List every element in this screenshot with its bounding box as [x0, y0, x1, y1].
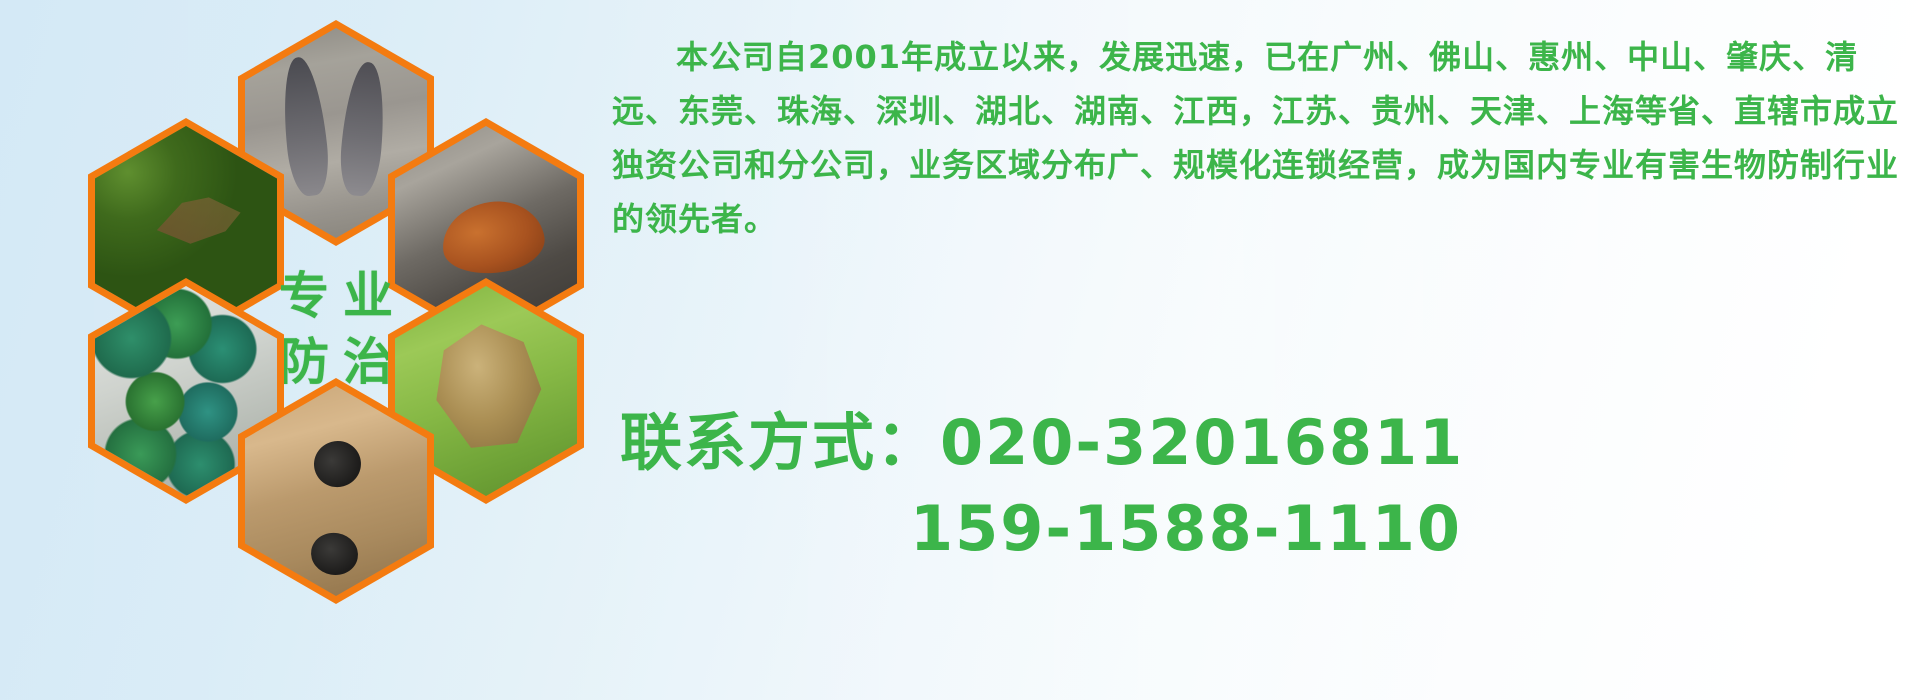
company-intro-banner: 专业 防治 本公司自2001年成立以来，发展迅速，已在广州、佛山、惠州、中山、肇…	[0, 0, 1920, 700]
intro-paragraph: 本公司自2001年成立以来，发展迅速，已在广州、佛山、惠州、中山、肇庆、清远、东…	[612, 30, 1908, 246]
honeycomb-title-line1: 专业	[265, 265, 407, 328]
contact-phone-primary[interactable]: 联系方式：020-32016811	[620, 400, 1920, 486]
ant-photo	[245, 386, 427, 596]
honeycomb-collage: 专业 防治	[88, 8, 588, 568]
intro-paragraph-block: 本公司自2001年成立以来，发展迅速，已在广州、佛山、惠州、中山、肇庆、清远、东…	[612, 30, 1908, 246]
contact-phone-mobile[interactable]: 159-1588-1110	[620, 486, 1920, 572]
contact-block: 联系方式：020-32016811 159-1588-1110	[620, 400, 1920, 572]
intro-paragraph-text: 本公司自2001年成立以来，发展迅速，已在广州、佛山、惠州、中山、肇庆、清远、东…	[612, 38, 1899, 238]
